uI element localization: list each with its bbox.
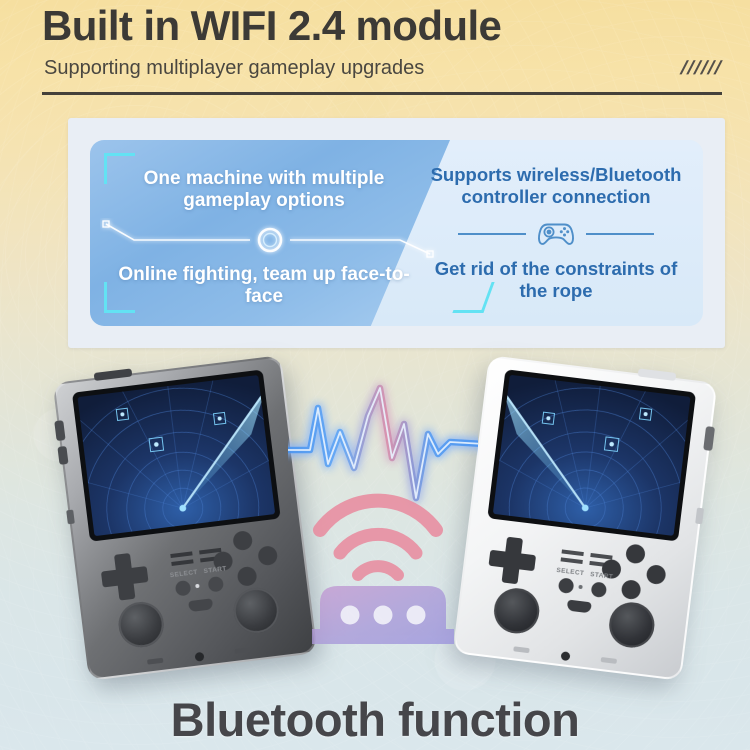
feature-right-heading: Supports wireless/Bluetooth controller c… (420, 164, 692, 208)
signal-graphic (288, 372, 478, 668)
device-screen (493, 375, 691, 536)
feature-right-divider (420, 214, 692, 254)
feature-left-heading: One machine with multiple gameplay optio… (114, 168, 414, 213)
left-side-slot (66, 510, 75, 525)
router-icon (312, 586, 454, 644)
device-screen (77, 375, 275, 536)
feature-panel-inner: One machine with multiple gameplay optio… (90, 140, 703, 326)
radar-sweep-display (77, 375, 275, 536)
footer-title: Bluetooth function (0, 692, 750, 747)
circuit-node-icon (100, 218, 440, 260)
handheld-console-transparent: SELECT START (53, 355, 318, 681)
right-shoulder-button (703, 426, 715, 451)
divider-line-right (586, 233, 654, 235)
product-marketing-page: Built in WIFI 2.4 module Supporting mult… (0, 0, 750, 750)
handheld-console-white: SELECT START (453, 355, 718, 681)
page-subtitle: Supporting multiplayer gameplay upgrades (44, 57, 424, 80)
gamepad-icon (534, 218, 578, 250)
signal-waveform-icon (288, 388, 478, 498)
header-divider (42, 92, 722, 95)
right-side-slot (695, 508, 704, 525)
divider-line-left (458, 233, 526, 235)
wifi-arcs-icon (320, 501, 436, 575)
page-title: Built in WIFI 2.4 module (42, 2, 501, 50)
device-screen-bezel (487, 369, 696, 541)
radar-sweep-display (493, 375, 691, 536)
slash-marks-icon: ////// (678, 58, 726, 80)
feature-left-subheading: Online fighting, team up face-to-face (114, 264, 414, 309)
feature-right-subheading: Get rid of the constraints of the rope (420, 258, 692, 302)
device-screen-bezel (72, 369, 281, 541)
feature-panel: One machine with multiple gameplay optio… (68, 118, 725, 348)
